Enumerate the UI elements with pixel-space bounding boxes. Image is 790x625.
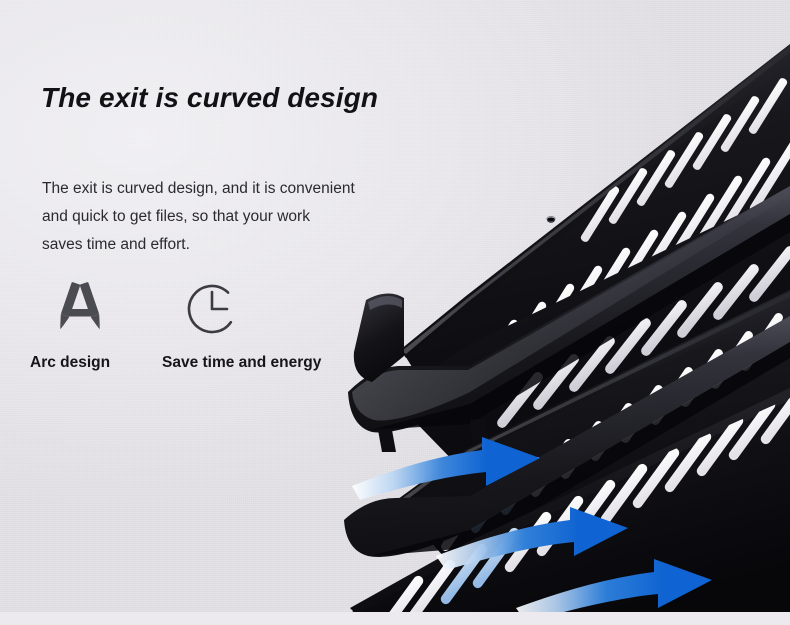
product-feature-image: The exit is curved design The exit is cu… xyxy=(0,0,790,625)
clock-icon xyxy=(182,278,242,345)
body-copy-line: The exit is curved design, and it is con… xyxy=(42,175,355,203)
page-title: The exit is curved design xyxy=(41,82,378,114)
body-copy: The exit is curved design, and it is con… xyxy=(42,175,355,259)
arc-compass-icon xyxy=(50,278,110,345)
body-copy-line: and quick to get files, so that your wor… xyxy=(42,203,355,231)
body-copy-line: saves time and effort. xyxy=(42,231,355,259)
feature-label-save-time: Save time and energy xyxy=(162,354,321,372)
bottom-border-band xyxy=(0,612,790,625)
feature-label-row: Arc design Save time and energy xyxy=(30,354,321,372)
feature-label-arc-design: Arc design xyxy=(30,354,162,372)
